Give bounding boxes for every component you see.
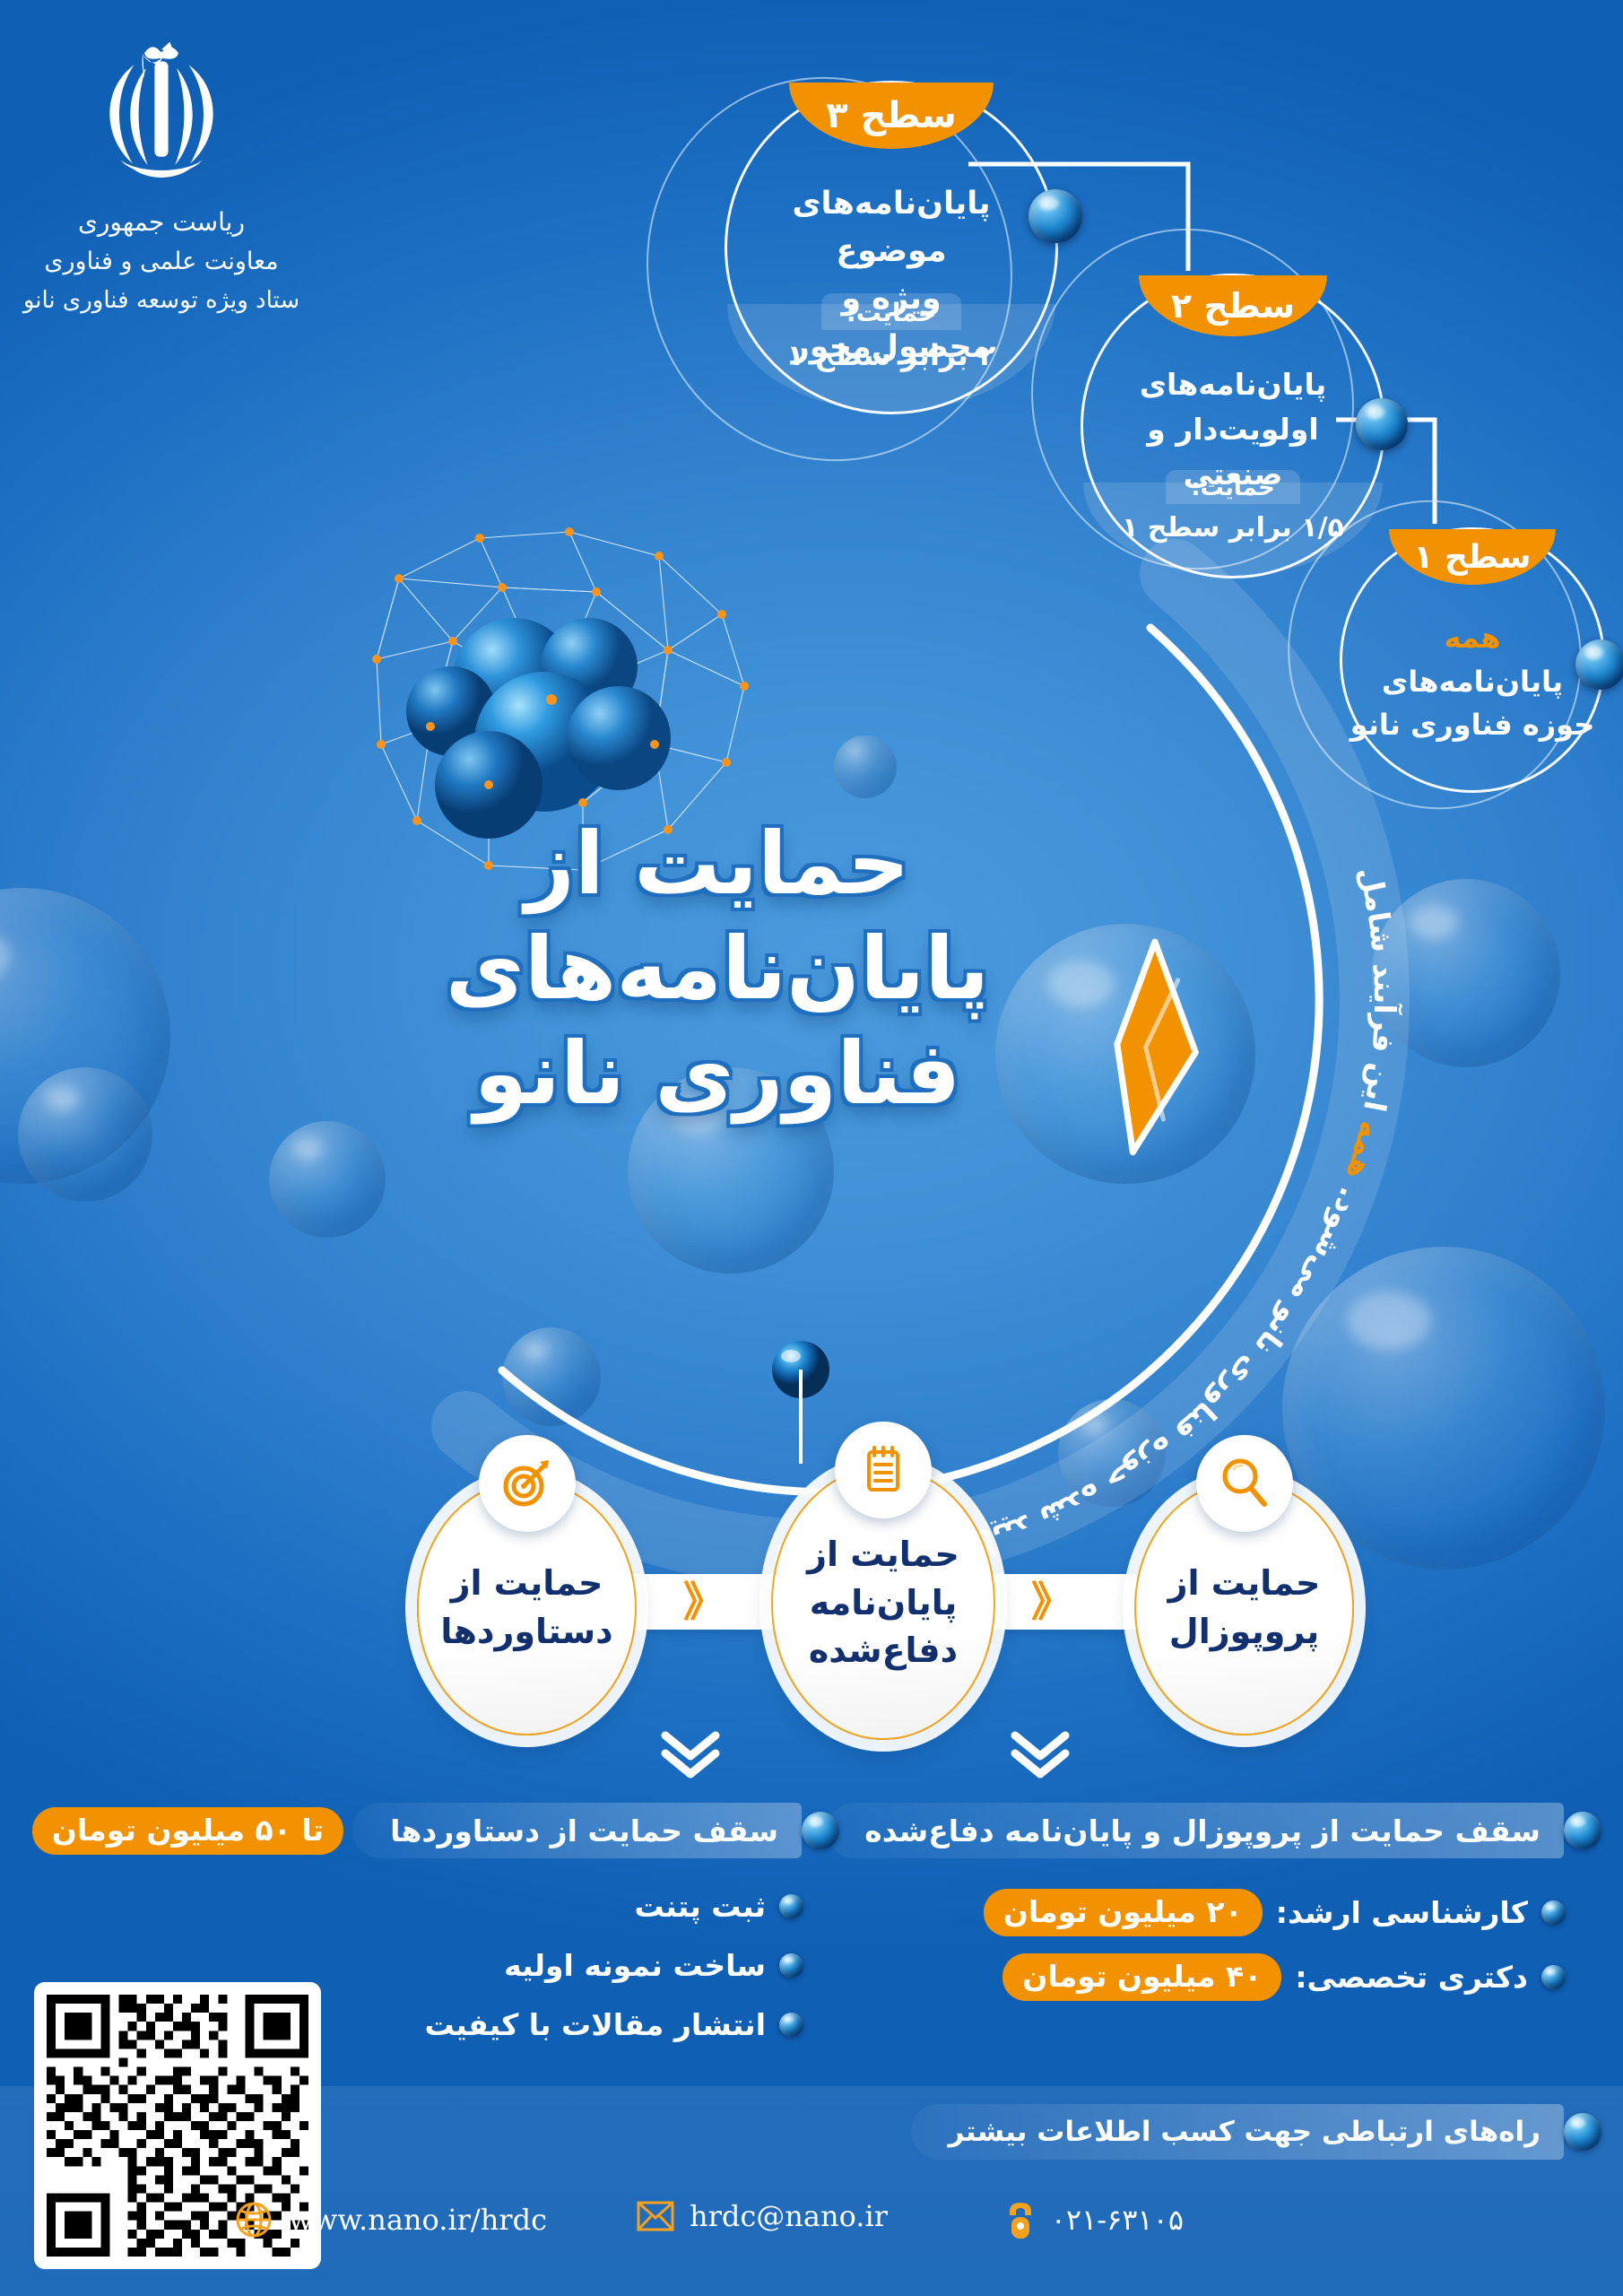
list-bullet-orb xyxy=(779,2013,803,2037)
support-cap-masters-amount: ۲۰ میلیون تومان xyxy=(984,1889,1263,1936)
footer-email-text: hrdc@nano.ir xyxy=(690,2199,888,2233)
process-step-defended-thesis[interactable]: حمایت از پایان‌نامه دفاع‌شده xyxy=(771,1466,995,1740)
level-1-circle[interactable]: سطح ۱ همه پایان‌نامه‌های حوزه فناوری نان… xyxy=(1340,527,1605,793)
support-cap-masters-label: کارشناسی ارشد: xyxy=(1276,1895,1528,1930)
level-1-badge: سطح ۱ xyxy=(1389,529,1556,585)
chevron-left-icon: 《 xyxy=(1031,1581,1072,1622)
magnifier-icon xyxy=(1196,1435,1293,1532)
level-3-support-value: ۲ برابر سطح ۱ xyxy=(727,338,1055,372)
support-cap-left-heading: سقف حمایت از دستاوردها تا ۵۰ میلیون توما… xyxy=(32,1803,834,1858)
level-2-node-orb xyxy=(1356,398,1408,450)
level-1-highlight: همه xyxy=(1444,621,1500,655)
footer-heading-text: راه‌های ارتباطی جهت کسب اطلاعات بیشتر xyxy=(911,2104,1564,2160)
support-cap-left-heading-text: سقف حمایت از دستاوردها xyxy=(352,1803,802,1858)
chevron-double-down-icon xyxy=(655,1726,726,1786)
level-1-line-1: پایان‌نامه‌های xyxy=(1382,665,1563,699)
section-bullet-orb xyxy=(802,1812,839,1849)
process-step-proposal-label: حمایت از پروپوزال xyxy=(1168,1560,1321,1657)
level-3-support-label: حمایت: xyxy=(821,293,962,330)
envelope-icon xyxy=(636,2199,675,2233)
title-line-1: حمایت از xyxy=(430,812,1004,917)
page-title: حمایت از پایان‌نامه‌های فناوری نانو xyxy=(430,812,1004,1126)
level-3-line-1: پایان‌نامه‌های موضوع xyxy=(743,180,1039,275)
level-2-support-label: حمایت: xyxy=(1166,470,1300,504)
process-step-achievements-label: حمایت از دستاوردها xyxy=(440,1560,612,1657)
support-cap-achievements-amount: تا ۵۰ میلیون تومان xyxy=(32,1807,343,1855)
level-3-badge: سطح ۳ xyxy=(789,83,994,149)
telephone-icon xyxy=(1004,2199,1037,2240)
title-line-3: فناوری نانو xyxy=(430,1022,1004,1126)
notepad-icon xyxy=(835,1422,932,1518)
footer-phone-text: ۰۲۱-۶۳۱۰۵ xyxy=(1051,2203,1184,2237)
chevron-double-down-icon xyxy=(1004,1726,1076,1786)
process-bridge-left: 《 xyxy=(619,1574,789,1630)
footer-website-text: www.nano.ir/hrdc xyxy=(289,2203,547,2237)
list-bullet-orb xyxy=(779,1953,803,1978)
level-2-circle[interactable]: سطح ۲ پایان‌نامه‌های اولویت‌دار و صنعتی … xyxy=(1081,274,1385,578)
title-line-2: پایان‌نامه‌های xyxy=(430,917,1004,1022)
globe-icon xyxy=(233,2199,274,2240)
level-2-line-1: پایان‌نامه‌های xyxy=(1094,362,1372,407)
support-cap-phd-label: دکتری تخصصی: xyxy=(1295,1960,1528,1995)
support-cap-right-heading: سقف حمایت از پروپوزال و پایان‌نامه دفاع‌… xyxy=(827,1803,1596,1858)
level-1-node-orb xyxy=(1575,639,1623,690)
level-3-node-orb xyxy=(1028,189,1082,243)
list-bullet-orb xyxy=(1541,1965,1566,1989)
process-step-achievements[interactable]: حمایت از دستاوردها xyxy=(417,1480,637,1735)
support-cap-row-masters: کارشناسی ارشد: ۲۰ میلیون تومان xyxy=(984,1889,1560,1936)
level-1-line-2: حوزه فناوری نانو xyxy=(1349,703,1596,747)
level-2-support-value: ۱/۵ برابر سطح ۱ xyxy=(1083,512,1383,544)
level-3-circle[interactable]: سطح ۳ پایان‌نامه‌های موضوع ویژه و محصول‌… xyxy=(725,81,1058,414)
level-2-badge: سطح ۲ xyxy=(1139,275,1327,336)
section-bullet-orb xyxy=(1564,1812,1601,1849)
footer-phone[interactable]: ۰۲۱-۶۳۱۰۵ xyxy=(1004,2199,1184,2240)
support-cap-right-heading-text: سقف حمایت از پروپوزال و پایان‌نامه دفاع‌… xyxy=(827,1803,1564,1858)
list-bullet-orb xyxy=(779,1894,803,1918)
support-cap-row-phd: دکتری تخصصی: ۴۰ میلیون تومان xyxy=(1002,1953,1560,2001)
process-step-proposal[interactable]: حمایت از پروپوزال xyxy=(1134,1480,1354,1735)
achievement-item-prototype: ساخت نمونه اولیه xyxy=(504,1948,798,1983)
achievement-item-articles: انتشار مقالات با کیفیت xyxy=(424,2007,798,2042)
footer-email[interactable]: hrdc@nano.ir xyxy=(636,2199,888,2233)
achievement-item-patent: ثبت پتنت xyxy=(634,1889,798,1924)
target-dart-icon xyxy=(479,1435,576,1532)
footer-website[interactable]: www.nano.ir/hrdc xyxy=(233,2199,547,2240)
section-bullet-orb xyxy=(1564,2113,1601,2151)
process-step-defended-thesis-label: حمایت از پایان‌نامه دفاع‌شده xyxy=(807,1531,959,1676)
support-cap-phd-amount: ۴۰ میلیون تومان xyxy=(1002,1953,1281,2001)
list-bullet-orb xyxy=(1541,1900,1566,1925)
chevron-left-icon: 《 xyxy=(683,1581,725,1622)
footer-heading: راه‌های ارتباطی جهت کسب اطلاعات بیشتر xyxy=(911,2104,1596,2160)
poster-root: ریاست جمهوری معاونت علمی و فناوری ستاد و… xyxy=(0,0,1623,2296)
